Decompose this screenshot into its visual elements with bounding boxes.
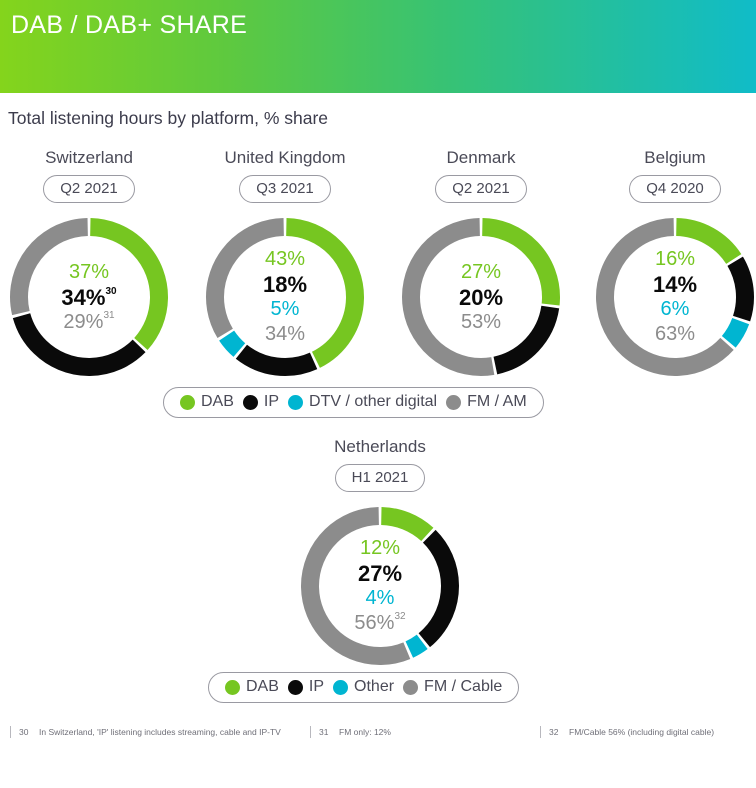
legend-item-label: DTV / other digital: [309, 393, 437, 411]
donut-segment: [205, 217, 365, 377]
period-badge[interactable]: Q4 2020: [629, 175, 721, 203]
donut-segment: [300, 506, 460, 666]
donut-chart: 16%14%6%63%: [595, 217, 755, 377]
chart-card-denmark: DenmarkQ2 202127%20%53%: [386, 148, 576, 377]
donut-chart: 37%34%3029%31: [9, 217, 169, 377]
period-badge[interactable]: Q2 2021: [435, 175, 527, 203]
footnote-number: 30: [19, 726, 39, 738]
legend-item-label: FM / Cable: [424, 678, 502, 696]
chart-card-switzerland: SwitzerlandQ2 202137%34%3029%31: [0, 148, 184, 377]
legend-item[interactable]: Other: [333, 678, 394, 696]
donut-chart: 12%27%4%56%32: [300, 506, 460, 666]
period-badge[interactable]: H1 2021: [335, 464, 426, 492]
footnote: 32FM/Cable 56% (including digital cable): [540, 726, 746, 738]
donut-segment: [205, 217, 365, 377]
legend-color-swatch-icon: [243, 395, 258, 410]
footnote-number: 31: [319, 726, 339, 738]
donut-segment: [401, 217, 561, 377]
country-name: United Kingdom: [190, 148, 380, 168]
legend-item[interactable]: DTV / other digital: [288, 393, 437, 411]
legend-item[interactable]: DAB: [225, 678, 279, 696]
donut-segment: [595, 217, 755, 377]
footnote: 30In Switzerland, 'IP' listening include…: [10, 726, 310, 738]
legend-primary: DABIPDTV / other digitalFM / AM: [163, 387, 544, 418]
footnote-text: In Switzerland, 'IP' listening includes …: [39, 726, 281, 738]
legend-item[interactable]: IP: [243, 393, 279, 411]
legend-color-swatch-icon: [180, 395, 195, 410]
legend-secondary: DABIPOtherFM / Cable: [208, 672, 519, 703]
legend-color-swatch-icon: [446, 395, 461, 410]
chart-card-belgium: BelgiumQ4 202016%14%6%63%: [580, 148, 756, 377]
page-title: DAB / DAB+ SHARE: [11, 11, 247, 40]
footnote-text: FM only: 12%: [339, 726, 391, 738]
footnote: 31FM only: 12%: [310, 726, 540, 738]
legend-item-label: DAB: [201, 393, 234, 411]
legend-item-label: FM / AM: [467, 393, 527, 411]
legend-color-swatch-icon: [403, 680, 418, 695]
legend-color-swatch-icon: [288, 395, 303, 410]
donut-segment: [300, 506, 460, 666]
donut-segment: [595, 217, 755, 377]
footnote-text: FM/Cable 56% (including digital cable): [569, 726, 714, 738]
country-name: Denmark: [386, 148, 576, 168]
legend-item[interactable]: IP: [288, 678, 324, 696]
donut-segment: [9, 217, 169, 377]
donut-chart: 27%20%53%: [401, 217, 561, 377]
footnotes: 30In Switzerland, 'IP' listening include…: [10, 726, 746, 738]
legend-item-label: Other: [354, 678, 394, 696]
donut-segment: [205, 217, 365, 377]
legend-color-swatch-icon: [225, 680, 240, 695]
donut-segment: [9, 217, 169, 377]
donut-segment: [300, 506, 460, 666]
legend-item-label: IP: [309, 678, 324, 696]
country-name: Belgium: [580, 148, 756, 168]
legend-color-swatch-icon: [288, 680, 303, 695]
legend-item[interactable]: DAB: [180, 393, 234, 411]
legend-item[interactable]: FM / Cable: [403, 678, 502, 696]
legend-color-swatch-icon: [333, 680, 348, 695]
period-badge[interactable]: Q3 2021: [239, 175, 331, 203]
footnote-number: 32: [549, 726, 569, 738]
donut-chart: 43%18%5%34%: [205, 217, 365, 377]
subtitle: Total listening hours by platform, % sha…: [8, 108, 328, 129]
country-name: Netherlands: [285, 437, 475, 457]
legend-item-label: DAB: [246, 678, 279, 696]
period-badge[interactable]: Q2 2021: [43, 175, 135, 203]
donut-segment: [595, 217, 755, 377]
chart-card-united-kingdom: United KingdomQ3 202143%18%5%34%: [190, 148, 380, 377]
country-name: Switzerland: [0, 148, 184, 168]
chart-card-netherlands: NetherlandsH1 202112%27%4%56%32: [285, 437, 475, 666]
header-banner: DAB / DAB+ SHARE: [0, 0, 756, 93]
legend-item[interactable]: FM / AM: [446, 393, 527, 411]
legend-item-label: IP: [264, 393, 279, 411]
